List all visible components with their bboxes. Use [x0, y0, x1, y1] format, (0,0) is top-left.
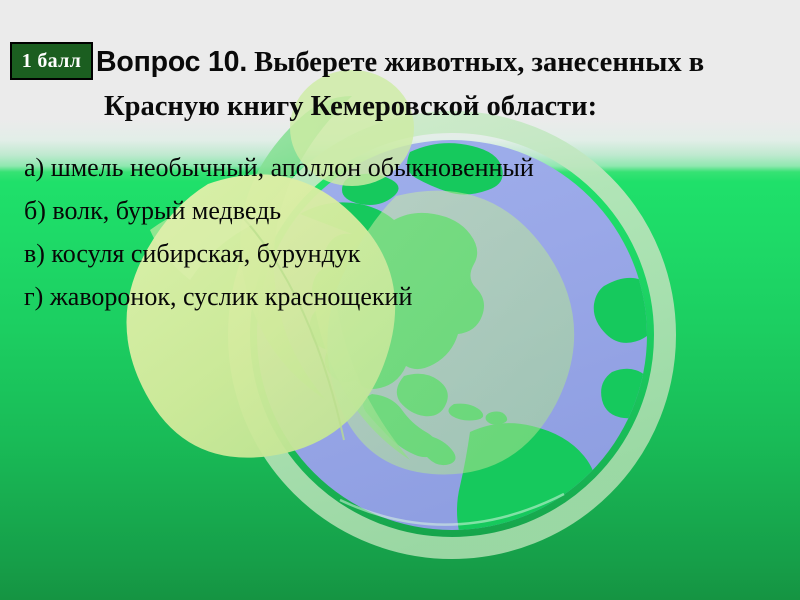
answer-option-c[interactable]: в) косуля сибирская, бурундук: [24, 232, 764, 275]
question-title-line-2: Красную книгу Кемеровской области:: [96, 85, 786, 129]
score-badge-label: 1 балл: [22, 51, 81, 71]
answer-option-b[interactable]: б) волк, бурый медведь: [24, 189, 764, 232]
answer-options-list: а) шмель необычный, аполлон обыкновенный…: [24, 146, 764, 318]
slide-canvas: 1 балл Вопрос 10. Выберете животных, зан…: [0, 0, 800, 600]
question-number-label: Вопрос 10.: [96, 46, 247, 78]
answer-option-d[interactable]: г) жаворонок, суслик краснощекий: [24, 275, 764, 318]
question-text-part-1: Выберете животных, занесенных в: [247, 47, 704, 78]
question-title-line-1: Вопрос 10. Выберете животных, занесенных…: [96, 40, 786, 85]
score-badge: 1 балл: [10, 42, 93, 80]
question-title: Вопрос 10. Выберете животных, занесенных…: [96, 40, 786, 129]
answer-option-a[interactable]: а) шмель необычный, аполлон обыкновенный: [24, 146, 764, 189]
